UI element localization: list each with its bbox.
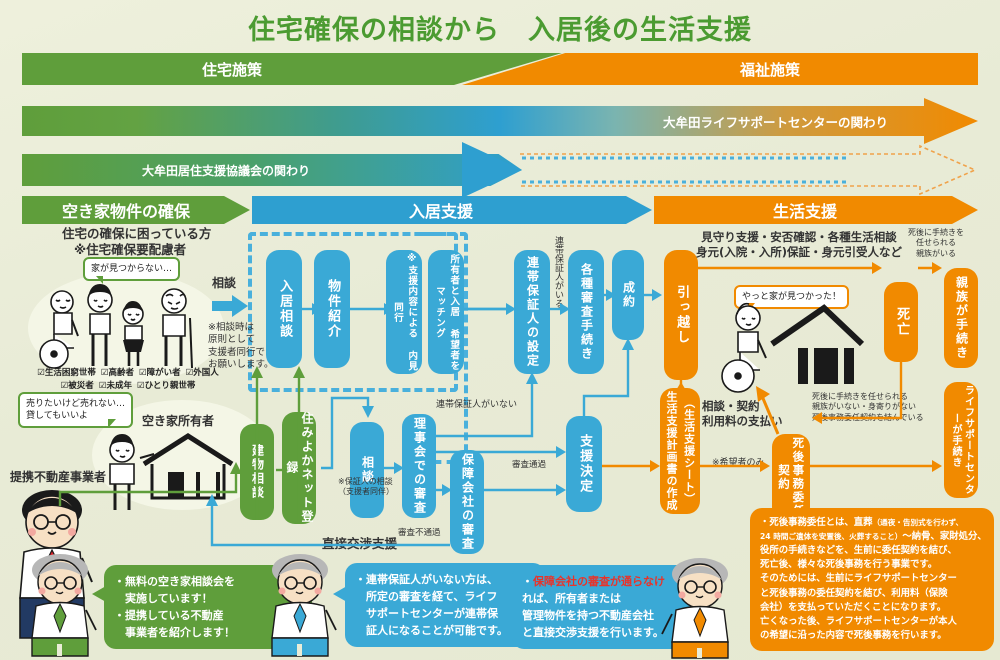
- lsc-involvement-arrow: 大牟田ライフサポートセンターの関わり: [22, 98, 978, 144]
- callout-1-character: [18, 552, 104, 658]
- stage-2-label: 入居支援: [409, 198, 473, 222]
- box-sumiyoka: 住みよかネット登録: [282, 412, 316, 524]
- box-shibou: 死亡: [884, 282, 918, 362]
- callout-shigo-jimu-explanation: ・死後事務委任とは、直葬（通夜・告別式を行わず、 24 時間ご遺体を安置後、火葬…: [750, 508, 994, 651]
- box-tatemono-soudan: 建物相談: [240, 424, 274, 520]
- callout-3-highlight: 保障会社の審査が通らなけ: [533, 575, 665, 588]
- label-shinsa-tsuuka: 審査通過: [512, 460, 546, 471]
- lsc-arrow-label: 大牟田ライフサポートセンターの関わり: [663, 98, 888, 144]
- label-rentai-inai: 連帯保証人がいない: [436, 400, 517, 412]
- box-lsc-tetsuzuki: ライフサポートセンターが手続き: [944, 382, 978, 498]
- owner-speech-tail: [108, 419, 116, 428]
- callout-4-line-b: （通夜・告別式を行わず、: [873, 518, 964, 527]
- policy-welfare-label: 福祉施策: [740, 59, 800, 80]
- checkitem-list: ☑生活困窮世帯 ☑高齢者 ☑障がい者 ☑外国人 ☑被災者 ☑未成年 ☑ひとり親世…: [30, 366, 226, 391]
- box-matching: 所有者と入居 希望者をマッチング: [428, 250, 464, 374]
- box-shinzoku: 親族が手続き: [944, 268, 978, 368]
- council-arrow-dotted: [520, 144, 980, 196]
- callout-4-line-e: 役所の手続きなどを、生前に委任契約を結び、 死亡後、様々な死後事務を行う事業です…: [760, 545, 957, 641]
- consult-note: ※相談時は 原則として 支援者同行で お願いします。: [208, 322, 274, 371]
- box-keikakusho: （生活支援シート） 生活支援計画書の作成: [660, 388, 700, 514]
- checkitem: ☑障がい者: [139, 366, 181, 378]
- checkitem: ☑ひとり親世帯: [137, 379, 195, 391]
- council-involvement-arrow: 大牟田居住支援協議会の関わり: [22, 148, 978, 192]
- label-shigo-shinzoku-iru: 死後に手続きを 任せられる 親族がいる: [908, 228, 964, 259]
- callout-4-line-d: ～納骨、家財処分、: [902, 531, 986, 542]
- lsc-arrow-body: 大牟田ライフサポートセンターの関わり: [22, 98, 978, 144]
- left-heading-2: ※住宅確保要配慮者: [74, 242, 186, 258]
- stage-1-label: 空き家物件の確保: [62, 198, 190, 222]
- stage-3-label: 生活支援: [773, 198, 837, 222]
- box-naiken-doukou: ※支援内容による 内見同行: [386, 250, 422, 374]
- label-hoshounin-soudan: ※保証人の相談 （支援者同伴）: [338, 477, 394, 498]
- left-heading-1: 住宅の確保に困っている方: [62, 226, 211, 242]
- callout-2-character: [258, 552, 344, 658]
- box-hikkoshi: 引っ越し: [664, 250, 698, 380]
- consult-label: 相談: [212, 276, 236, 292]
- box-soudan: 相談: [350, 422, 384, 518]
- label-chokusetsu-koushou: 直接交渉支援: [322, 536, 397, 552]
- box-hoshou-shinsa: 保障会社の審査: [450, 450, 484, 554]
- stage-header-nyukyo: 入居支援: [252, 196, 652, 224]
- stage-header-akiya: 空き家物件の確保: [22, 196, 250, 224]
- council-arrow-label: 大牟田居住支援協議会の関わり: [142, 154, 310, 186]
- policy-housing-label: 住宅施策: [202, 59, 262, 80]
- box-nyukyo-soudan: 入居相談: [266, 250, 302, 368]
- box-kakushu-shinsa: 各種審査手続き: [568, 250, 604, 374]
- callout-3-character: [658, 556, 744, 660]
- stage-header-seikatsu: 生活支援: [654, 196, 978, 224]
- realtor-label: 提携不動産事業者: [10, 470, 106, 486]
- label-kibousha: ※希望者のみ: [712, 458, 765, 470]
- council-arrow-head: [462, 142, 522, 198]
- callout-3-prefix: ・: [522, 575, 533, 588]
- checkitem: ☑生活困窮世帯: [37, 366, 96, 378]
- label-rentai-aru: 連帯保証人がいる: [552, 236, 565, 308]
- consult-arrow-icon: [210, 293, 250, 319]
- box-bukken-shoukai: 物件紹介: [314, 250, 350, 368]
- checkitem: ☑高齢者: [101, 366, 134, 378]
- policy-bar: 住宅施策 福祉施策: [22, 53, 978, 85]
- checkitem: ☑未成年: [99, 379, 132, 391]
- happy-house-illustration: [706, 300, 866, 400]
- needy-persons-illustration: [32, 276, 222, 378]
- box-rijikai-shinsa: 理事会での審査: [402, 414, 436, 518]
- label-shinsa-futsuuka: 審査不通過: [398, 528, 441, 539]
- callout-4-line-a: ・死後事務委任とは、直葬: [760, 517, 873, 528]
- speech-bubble-tail: [96, 276, 103, 284]
- callout-4-line-c: 24 時間ご遺体を安置後、火葬すること）: [760, 532, 902, 541]
- box-shien-kettei: 支援決定: [566, 416, 602, 512]
- callout-3-rest: れば、所有者または 管理物件を持つ不動産会社 と直接交渉支援を行います。: [522, 592, 664, 639]
- box-seiyaku: 成約: [612, 250, 644, 340]
- label-soudan-keiyaku: 相談・契約 利用料の支払い: [702, 399, 783, 429]
- checkitem: ☑被災者: [61, 379, 94, 391]
- box-rentai-settei: 連帯保証人の設定: [514, 250, 550, 374]
- label-mimamori: 見守り支援・安否確認・各種生活相談 身元(入院・入所)保証・身元引受人など: [696, 230, 902, 260]
- page-title: 住宅確保の相談から 入居後の生活支援: [0, 8, 1000, 47]
